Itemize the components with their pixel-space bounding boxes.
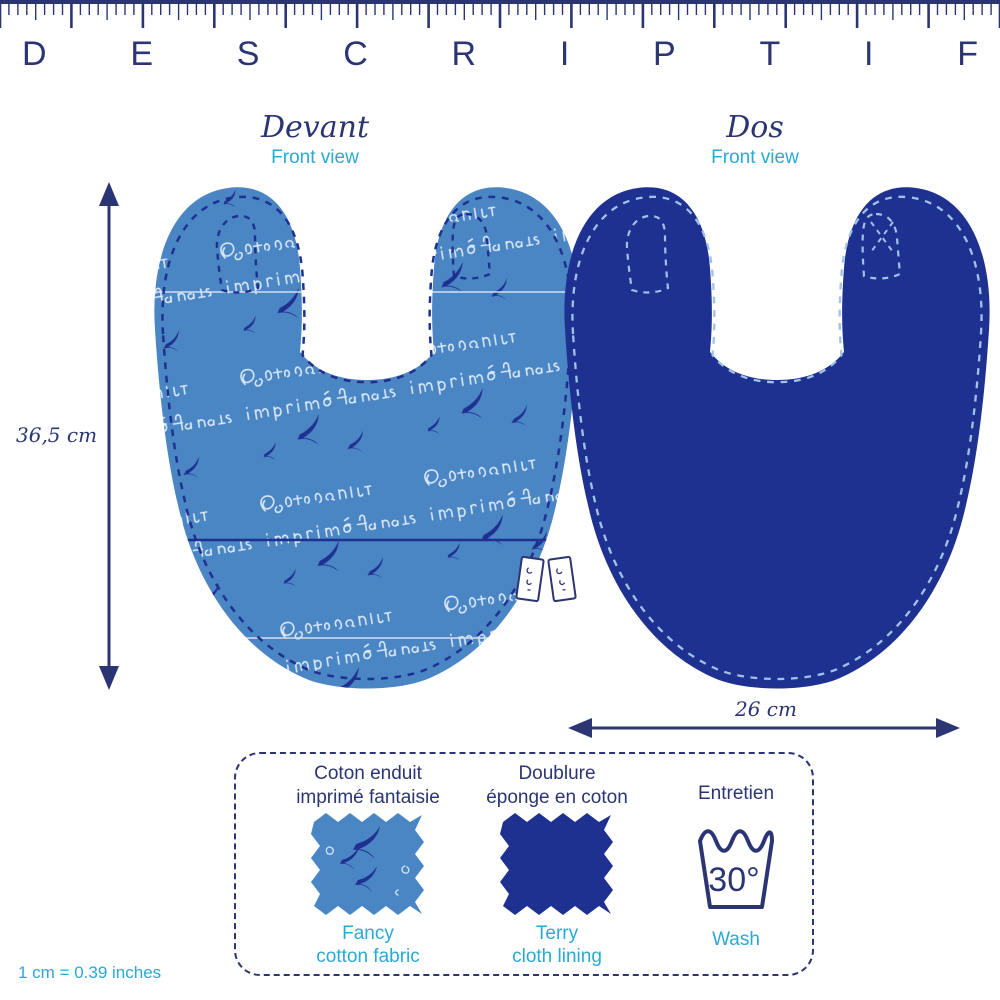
legend-fr-line2: imprimé fantaisie [278,786,458,810]
legend-en-line1: Terry [467,922,647,946]
legend-fr-line1: Doublure [467,762,647,786]
height-dimension-label: 36,5 cm [16,423,97,447]
legend-fr-line1: Entretien [646,782,826,806]
legend-swatch-holder [278,810,458,922]
legend-swatch-holder [467,810,647,922]
spec-sheet-page: D E S C R I P T I F Devant Front view Do… [0,0,1000,1000]
legend-item-care: Entretien 30° Wash [646,782,826,952]
fabric-tag-right [548,557,576,602]
bib-front-view [130,187,610,688]
fabric-swatch-printed-icon [308,810,428,922]
bib-illustration [0,0,1000,760]
legend-fr-line1: Coton enduit [278,762,458,786]
bib-back-body [564,187,989,688]
width-dimension-label: 26 cm [735,697,797,721]
bib-back-view [564,187,989,688]
legend-en-line1: Fancy [278,922,458,946]
legend-item-fancy-cotton: Coton enduit imprimé fantaisie Fancy cot… [278,762,458,969]
width-dimension-arrow [568,718,960,738]
fabric-tag-left [516,557,544,602]
unit-conversion-note: 1 cm = 0.39 inches [18,963,161,983]
legend-swatch-holder: 30° [646,806,826,928]
legend-item-terry-lining: Doublure éponge en coton Terry cloth lin… [467,762,647,969]
legend-en-line2: cotton fabric [278,945,458,969]
legend-fr-line2: éponge en coton [467,786,647,810]
legend-en-line2: cloth lining [467,945,647,969]
bib-front-body [154,187,579,688]
wash-30-degrees-icon: 30° [676,815,796,919]
wash-temperature-label: 30° [708,861,759,899]
fabric-swatch-terry-icon [497,810,617,922]
height-dimension-arrow [99,182,119,690]
legend-en-line1: Wash [646,928,826,952]
